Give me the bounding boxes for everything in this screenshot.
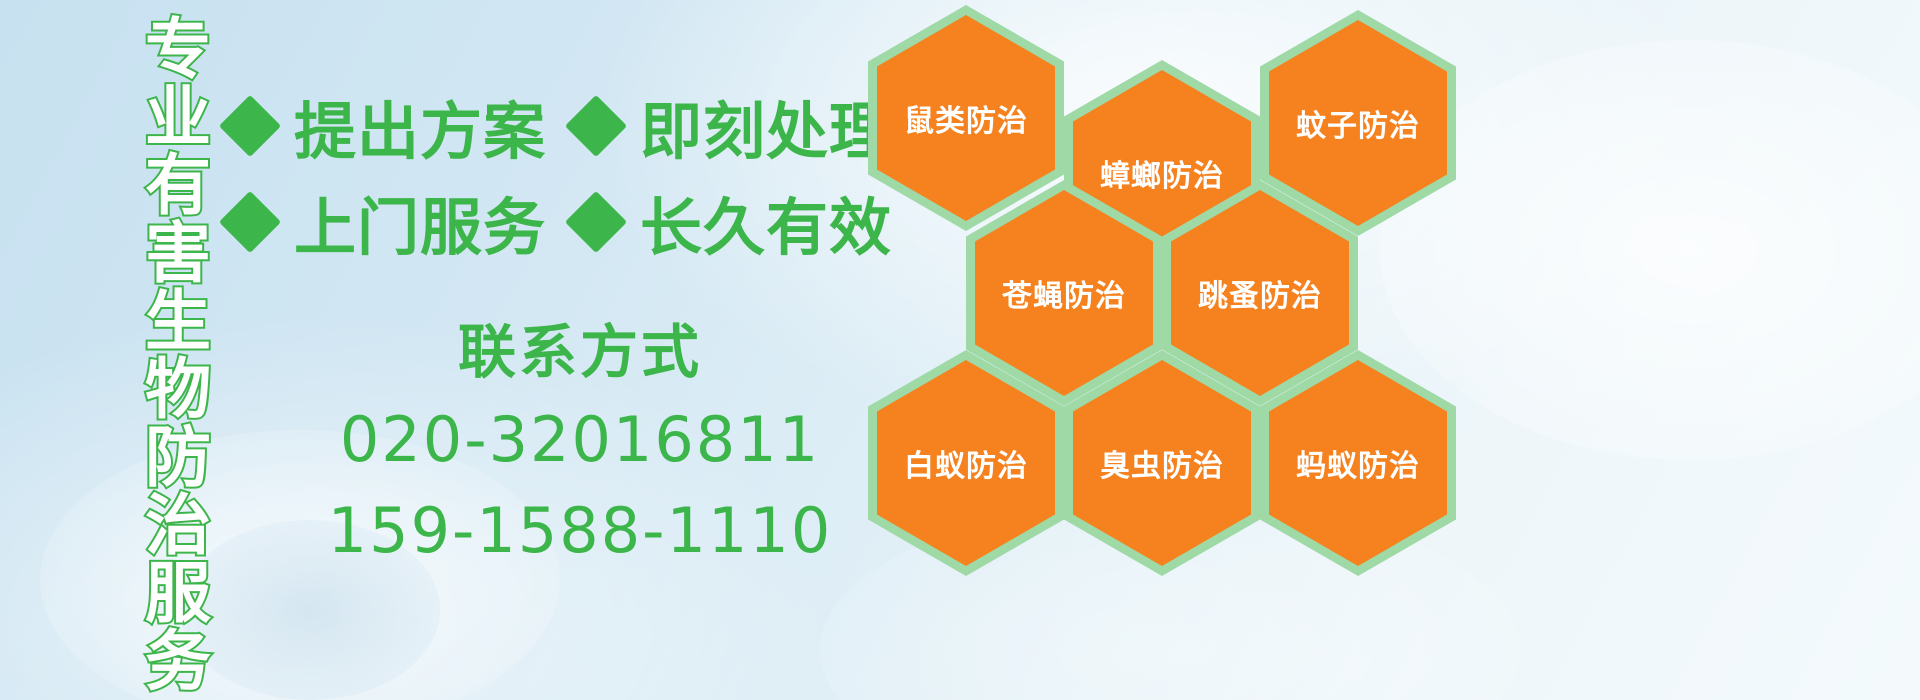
hex-label: 臭虫防治 <box>1100 441 1224 485</box>
hex-label: 蚂蚁防治 <box>1296 441 1420 485</box>
hex-label: 鼠类防治 <box>904 96 1028 140</box>
slogan-text: 即刻处理 <box>640 81 892 171</box>
diamond-icon <box>219 95 281 157</box>
diamond-icon <box>219 191 281 253</box>
service-honeycomb: 鼠类防治 蟑螂防治 蚊子防治 苍蝇防治 跳蚤防治 白蚁防治 臭虫防治 蚂蚁 <box>862 0 1462 700</box>
phone-number-secondary[interactable]: 159-1588-1110 <box>300 491 860 570</box>
hex-label: 蟑螂防治 <box>1100 151 1224 195</box>
hex-label: 白蚁防治 <box>904 441 1028 485</box>
slogan-block: 提出方案 即刻处理 上门服务 长久有效 <box>228 78 868 270</box>
phone-number-primary[interactable]: 020-32016811 <box>300 400 860 479</box>
diamond-icon <box>565 191 627 253</box>
slogan-text: 提出方案 <box>294 81 546 171</box>
diamond-icon <box>565 95 627 157</box>
slogan-row: 提出方案 即刻处理 <box>228 78 868 174</box>
pest-control-banner: 专业有害生物防治服务 提出方案 即刻处理 上门服务 长久有效 联系方式 020-… <box>0 0 1920 700</box>
slogan-row: 上门服务 长久有效 <box>228 174 868 270</box>
slogan-text: 上门服务 <box>294 177 546 267</box>
vertical-headline: 专业有害生物防治服务 <box>112 14 204 674</box>
contact-block: 联系方式 020-32016811 159-1588-1110 <box>300 318 860 570</box>
hex-label: 蚊子防治 <box>1296 101 1420 145</box>
hex-label: 苍蝇防治 <box>1002 271 1126 315</box>
hex-label: 跳蚤防治 <box>1198 271 1322 315</box>
slogan-text: 长久有效 <box>640 177 892 267</box>
contact-heading: 联系方式 <box>300 318 860 388</box>
